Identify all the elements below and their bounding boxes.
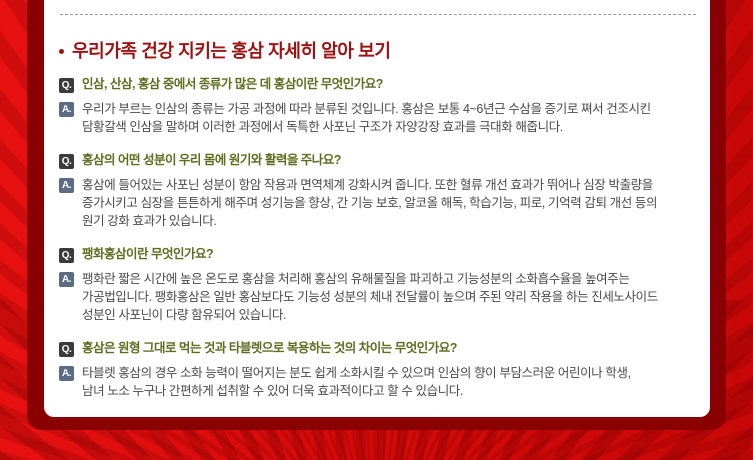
answer-line: 팽화란 짧은 시간에 높은 온도로 홍삼을 처리해 홍삼의 유해물질을 파괴하고… xyxy=(82,270,658,288)
answer-line: 담황갈색 인삼을 말하며 이러한 과정에서 독특한 사포닌 구조가 자양강장 효… xyxy=(82,118,651,136)
question-badge-icon: Q. xyxy=(59,342,74,357)
faq-answer-text: 타블렛 홍삼의 경우 소화 능력이 떨어지는 분도 쉽게 소화시킬 수 있으며 … xyxy=(82,364,631,400)
faq-question-row[interactable]: Q. 홍삼은 원형 그대로 먹는 것과 타블렛으로 복용하는 것의 차이는 무엇… xyxy=(59,340,696,357)
bullet-dot-icon xyxy=(59,49,64,54)
faq-list: Q. 인삼, 산삼, 홍삼 중에서 종류가 많은 데 홍삼이란 무엇인가요? A… xyxy=(59,76,696,400)
dashed-divider xyxy=(60,14,696,15)
faq-question-text: 팽화홍삼이란 무엇인가요? xyxy=(82,246,213,262)
faq-answer-text: 팽화란 짧은 시간에 높은 온도로 홍삼을 처리해 홍삼의 유해물질을 파괴하고… xyxy=(82,270,658,324)
faq-question-text: 홍삼의 어떤 성분이 우리 몸에 원기와 활력을 주나요? xyxy=(82,152,341,168)
answer-line: 우리가 부르는 인삼의 종류는 가공 과정에 따라 분류된 것입니다. 홍삼은 … xyxy=(82,100,651,118)
faq-item[interactable]: Q. 홍삼은 원형 그대로 먹는 것과 타블렛으로 복용하는 것의 차이는 무엇… xyxy=(59,340,696,400)
answer-line: 성분인 사포닌이 다량 함유되어 있습니다. xyxy=(82,306,658,324)
faq-question-row[interactable]: Q. 인삼, 산삼, 홍삼 중에서 종류가 많은 데 홍삼이란 무엇인가요? xyxy=(59,76,696,93)
section-title-text: 우리가족 건강 지키는 홍삼 자세히 알아 보기 xyxy=(72,37,390,63)
answer-badge-icon: A. xyxy=(59,366,74,381)
faq-item[interactable]: Q. 홍삼의 어떤 성분이 우리 몸에 원기와 활력을 주나요? A. 홍삼에 … xyxy=(59,152,696,230)
faq-item[interactable]: Q. 팽화홍삼이란 무엇인가요? A. 팽화란 짧은 시간에 높은 온도로 홍삼… xyxy=(59,246,696,324)
answer-line: 가공법입니다. 팽화홍삼은 일반 홍삼보다도 기능성 성분의 체내 전달률이 높… xyxy=(82,288,658,306)
answer-line: 타블렛 홍삼의 경우 소화 능력이 떨어지는 분도 쉽게 소화시킬 수 있으며 … xyxy=(82,364,631,382)
faq-question-row[interactable]: Q. 팽화홍삼이란 무엇인가요? xyxy=(59,246,696,263)
faq-question-text: 홍삼은 원형 그대로 먹는 것과 타블렛으로 복용하는 것의 차이는 무엇인가요… xyxy=(82,340,457,356)
faq-answer-text: 우리가 부르는 인삼의 종류는 가공 과정에 따라 분류된 것입니다. 홍삼은 … xyxy=(82,100,651,136)
faq-answer-row: A. 팽화란 짧은 시간에 높은 온도로 홍삼을 처리해 홍삼의 유해물질을 파… xyxy=(59,270,696,324)
faq-item[interactable]: Q. 인삼, 산삼, 홍삼 중에서 종류가 많은 데 홍삼이란 무엇인가요? A… xyxy=(59,76,696,136)
faq-question-row[interactable]: Q. 홍삼의 어떤 성분이 우리 몸에 원기와 활력을 주나요? xyxy=(59,152,696,169)
question-badge-icon: Q. xyxy=(59,154,74,169)
answer-badge-icon: A. xyxy=(59,102,74,117)
faq-answer-row: A. 타블렛 홍삼의 경우 소화 능력이 떨어지는 분도 쉽게 소화시킬 수 있… xyxy=(59,364,696,400)
faq-question-text: 인삼, 산삼, 홍삼 중에서 종류가 많은 데 홍삼이란 무엇인가요? xyxy=(82,76,383,92)
question-badge-icon: Q. xyxy=(59,78,74,93)
answer-line: 남녀 노소 누구나 간편하게 섭취할 수 있어 더욱 효과적이다고 할 수 있습… xyxy=(82,382,631,400)
answer-badge-icon: A. xyxy=(59,178,74,193)
faq-answer-row: A. 홍삼에 들어있는 사포닌 성분이 항암 작용과 면역체계 강화시켜 줍니다… xyxy=(59,176,696,230)
answer-line: 증가시키고 심장을 튼튼하게 해주며 성기능을 향상, 간 기능 보호, 알코올… xyxy=(82,194,657,212)
section-title: 우리가족 건강 지키는 홍삼 자세히 알아 보기 xyxy=(59,37,390,63)
page-root: 우리가족 건강 지키는 홍삼 자세히 알아 보기 Q. 인삼, 산삼, 홍삼 중… xyxy=(0,0,753,460)
question-badge-icon: Q. xyxy=(59,248,74,263)
answer-line: 홍삼에 들어있는 사포닌 성분이 항암 작용과 면역체계 강화시켜 줍니다. 또… xyxy=(82,176,657,194)
faq-answer-text: 홍삼에 들어있는 사포닌 성분이 항암 작용과 면역체계 강화시켜 줍니다. 또… xyxy=(82,176,657,230)
answer-badge-icon: A. xyxy=(59,272,74,287)
answer-line: 원기 강화 효과가 있습니다. xyxy=(82,212,657,230)
content-area: 우리가족 건강 지키는 홍삼 자세히 알아 보기 Q. 인삼, 산삼, 홍삼 중… xyxy=(44,0,710,417)
faq-answer-row: A. 우리가 부르는 인삼의 종류는 가공 과정에 따라 분류된 것입니다. 홍… xyxy=(59,100,696,136)
